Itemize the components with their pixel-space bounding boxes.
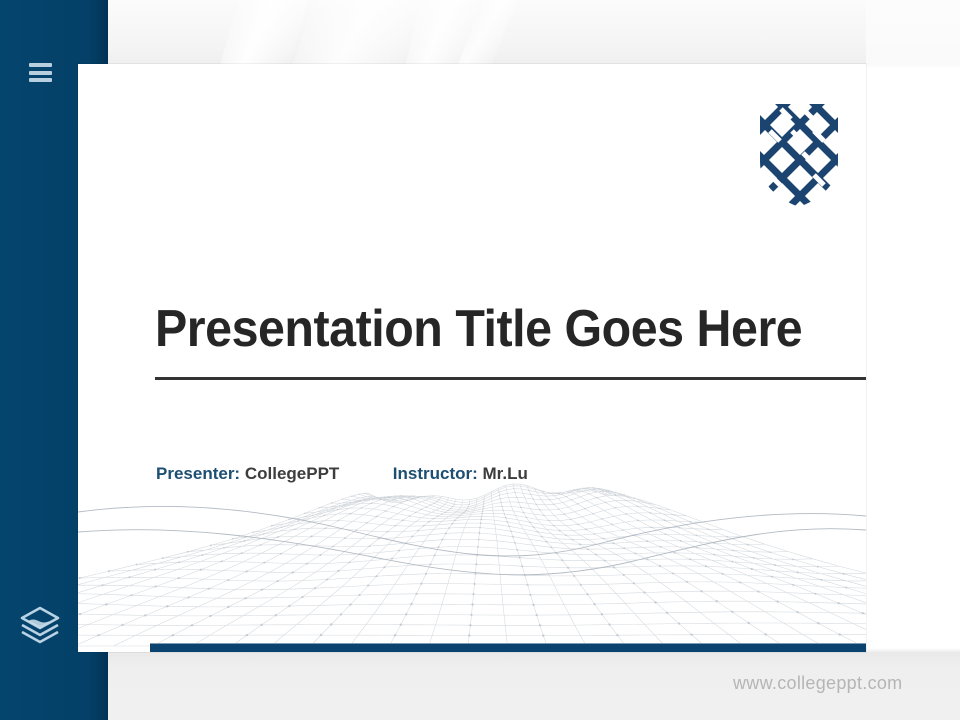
slide-preview-stage: Presentation Title Goes Here Presenter: … [0,0,960,720]
hamburger-menu-icon[interactable] [29,63,52,82]
presenter-value: CollegePPT [245,464,339,483]
slide-title: Presentation Title Goes Here [155,301,825,358]
footer-watermark: www.collegeppt.com [733,673,902,694]
wireframe-terrain-mesh [78,472,866,652]
presenter-label: Presenter: [156,464,240,483]
background-right-strip [866,0,960,720]
title-divider [155,377,866,380]
instructor-label: Instructor: [393,464,478,483]
macalester-college-woven-shield-logo [756,100,842,210]
layers-stack-icon[interactable] [16,601,64,649]
slide-byline: Presenter: CollegePPT Instructor: Mr.Lu [156,464,528,484]
menu-bar-1 [29,63,52,67]
background-top-strip [0,0,960,68]
slide-canvas: Presentation Title Goes Here Presenter: … [78,64,866,652]
instructor-value: Mr.Lu [483,464,528,483]
menu-bar-2 [29,71,52,75]
slide-bottom-bar [150,643,866,652]
menu-bar-3 [29,78,52,82]
